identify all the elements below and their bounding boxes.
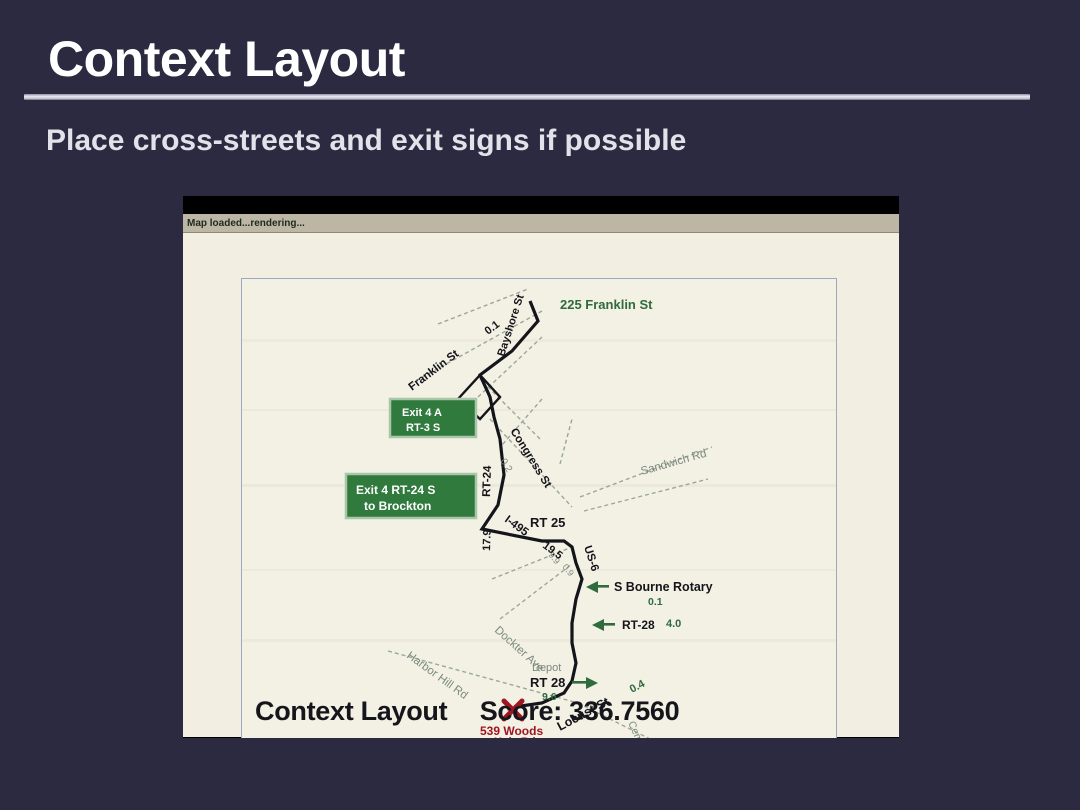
maneuver-label-rt-28-upper: RT-28: [622, 618, 655, 632]
map-bottom-caption: Context Layout Score: 336.7560: [255, 696, 679, 727]
map-render-panel[interactable]: 225 Franklin St Franklin St 0.1 Bayshore…: [241, 278, 837, 738]
map-caption-score: Score: 336.7560: [480, 696, 680, 726]
maneuver-arrow-rt-28-lower: [572, 677, 598, 689]
maneuver-label-us-6: US-6: [581, 544, 601, 573]
maneuver-distance-s-bourne-rotary: 0.1: [648, 596, 663, 608]
cross-street-label-sandwich-rd: Sandwich Rd: [640, 448, 708, 478]
title-divider: [24, 94, 1030, 100]
exit-sign-2-line1: Exit 4 RT-24 S: [356, 483, 435, 497]
map-canvas-area[interactable]: 225 Franklin St Franklin St 0.1 Bayshore…: [183, 233, 899, 737]
exit-sign-1: Exit 4 A RT-3 S: [390, 399, 476, 437]
origin-label: 225 Franklin St: [560, 297, 653, 312]
cross-street-label-harbor-hill-rd: Harbor Hill Rd: [404, 650, 469, 702]
maneuver-label-s-bourne-rotary: S Bourne Rotary: [614, 580, 713, 594]
window-title-strip: [183, 196, 899, 214]
route-distance-minor-2: 0.9: [560, 562, 576, 578]
paper-texture: [242, 339, 837, 642]
maneuver-label-rt-25: RT 25: [530, 515, 565, 530]
cross-street-label-congress-st: Congress St: [507, 426, 553, 490]
exit-sign-1-line1: Exit 4 A: [402, 407, 442, 419]
exit-sign-2: Exit 4 RT-24 S to Brockton: [346, 474, 476, 518]
maneuver-arrow-s-bourne-rotary: [586, 581, 609, 593]
cross-street-label-depot: Depot: [532, 662, 561, 674]
status-bar-text: Map loaded...rendering...: [187, 218, 305, 229]
cross-street-distance-congress-st: 0.2: [497, 457, 514, 475]
page-title: Context Layout: [48, 30, 405, 88]
map-caption-label: Context Layout: [255, 696, 447, 726]
route-map-graphic: 225 Franklin St Franklin St 0.1 Bayshore…: [242, 279, 837, 738]
exit-sign-1-line2: RT-3 S: [406, 422, 440, 434]
maneuver-label-bayshore-st: Bayshore St: [495, 293, 526, 358]
maneuver-label-rt-24: RT-24: [481, 465, 494, 497]
exit-sign-2-line2: to Brockton: [364, 499, 431, 513]
maneuver-label-rt-28-lower: RT 28: [530, 675, 565, 690]
maneuver-label-franklin-st: Franklin St: [407, 348, 462, 393]
maneuver-distance-rt-28-upper: 4.0: [666, 618, 681, 630]
maneuver-arrow-rt-28-upper: [592, 619, 615, 631]
slide-subtitle: Place cross-streets and exit signs if po…: [46, 124, 686, 158]
maneuver-distance-rt-24: 17.9: [481, 529, 494, 551]
slide-root: Context Layout Place cross-streets and e…: [0, 0, 1080, 810]
status-bar: Map loaded...rendering...: [183, 214, 899, 233]
map-application-window[interactable]: Map loaded...rendering...: [183, 196, 899, 738]
destination-label-line2: Hole Rd: [494, 736, 536, 738]
route-path: [480, 301, 582, 707]
maneuver-distance-locust-st: 0.4: [628, 677, 648, 695]
